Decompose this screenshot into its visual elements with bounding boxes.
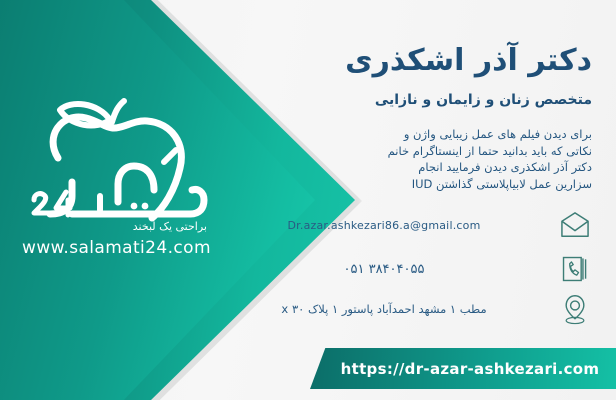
email-value[interactable]: Dr.azar.ashkezari86.a@gmail.com — [222, 219, 546, 232]
description-line-3: دکتر آذر اشکذری دیدن فرمایید انجام — [222, 159, 592, 176]
phone-value[interactable]: ۰۵۱ ۳۸۴۰۴۰۵۵ — [222, 262, 546, 277]
location-pin-icon — [558, 292, 592, 326]
contact-row-phone[interactable]: ۰۵۱ ۳۸۴۰۴۰۵۵ — [222, 252, 592, 286]
business-card: براحتی یک لبخند www.salamati24.com دکتر … — [0, 0, 616, 400]
description-line-4: سزارین عمل لابیاپلاستی گذاشتن IUD — [222, 176, 592, 193]
address-value: مطب ۱ مشهد احمدآباد پاستور ۱ پلاک ۳۰ x — [222, 302, 546, 316]
website-url-text[interactable]: https://dr-azar-ashkezari.com — [327, 360, 600, 378]
logo-website[interactable]: www.salamati24.com — [14, 238, 219, 258]
card-content: دکتر آذر اشکذری متخصص زنان و زایمان و نا… — [222, 0, 592, 400]
doctor-specialty: متخصص زنان و زایمان و نازایی — [222, 92, 592, 108]
logo-tagline: براحتی یک لبخند — [133, 220, 207, 233]
contact-row-address[interactable]: مطب ۱ مشهد احمدآباد پاستور ۱ پلاک ۳۰ x — [222, 292, 592, 326]
logo[interactable]: براحتی یک لبخند www.salamati24.com — [14, 96, 219, 276]
description-line-2: نکاتی که باید بدانید حتما از اینستاگرام … — [222, 143, 592, 160]
description-block: برای دیدن فیلم های عمل زیبایی واژن و نکا… — [222, 126, 592, 192]
envelope-icon — [558, 208, 592, 242]
description-line-1: برای دیدن فیلم های عمل زیبایی واژن و — [222, 126, 592, 143]
phone-book-icon — [558, 252, 592, 286]
contact-row-email[interactable]: Dr.azar.ashkezari86.a@gmail.com — [222, 208, 592, 242]
website-url-bar[interactable]: https://dr-azar-ashkezari.com — [310, 348, 616, 389]
doctor-name: دکتر آذر اشکذری — [222, 44, 592, 77]
